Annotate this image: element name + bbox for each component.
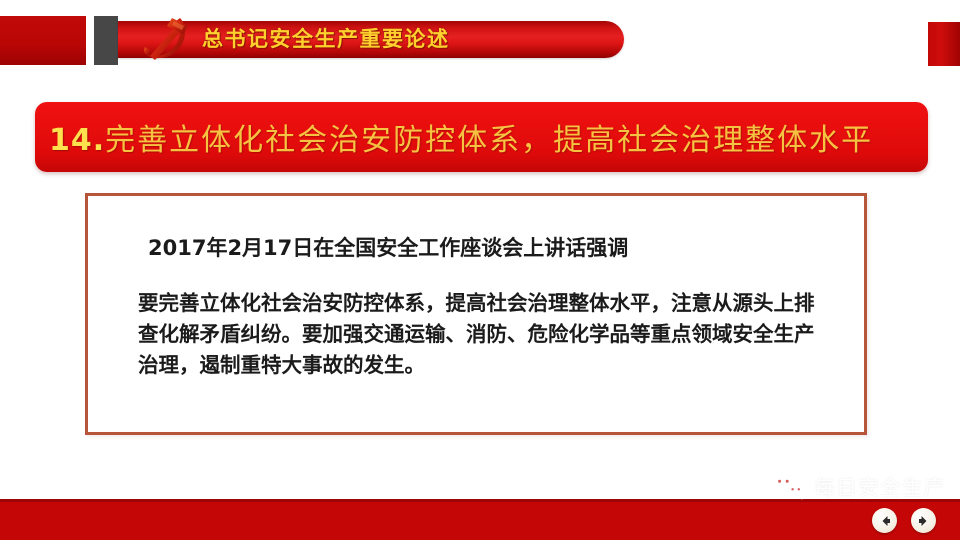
title-label: 完善立体化社会治安防控体系，提高社会治理整体水平 (105, 123, 873, 158)
header-ribbon-title: 总书记安全生产重要论述 (202, 21, 450, 58)
title-number: 14. (49, 123, 105, 158)
slide-canvas: 总书记安全生产重要论述 14.完善立体化社会治安防控体系，提高社会治理整体水平 … (0, 0, 960, 540)
previous-slide-button[interactable] (872, 508, 897, 533)
watermark-label: 每日安全生产 (814, 472, 946, 502)
next-slide-button[interactable] (911, 508, 936, 533)
arrow-right-icon (917, 514, 931, 528)
arrow-left-icon (878, 514, 892, 528)
slide-navigation (872, 508, 936, 533)
footer-band (0, 499, 960, 540)
quote-body-text: 要完善立体化社会治安防控体系，提高社会治理整体水平，注意从源头上排查化解矛盾纠纷… (138, 288, 830, 381)
decorative-block-right (928, 22, 960, 66)
wechat-icon (771, 472, 805, 502)
slide-title-bar: 14.完善立体化社会治安防控体系，提高社会治理整体水平 (35, 102, 928, 172)
hammer-sickle-icon (136, 12, 198, 64)
decorative-block-gray (94, 16, 118, 65)
decorative-block-left (0, 16, 86, 65)
quote-box: 2017年2月17日在全国安全工作座谈会上讲话强调 要完善立体化社会治安防控体系… (85, 193, 867, 435)
page-title: 14.完善立体化社会治安防控体系，提高社会治理整体水平 (35, 115, 873, 159)
quote-source-heading: 2017年2月17日在全国安全工作座谈会上讲话强调 (148, 232, 628, 262)
watermark: 每日安全生产 (771, 472, 946, 502)
